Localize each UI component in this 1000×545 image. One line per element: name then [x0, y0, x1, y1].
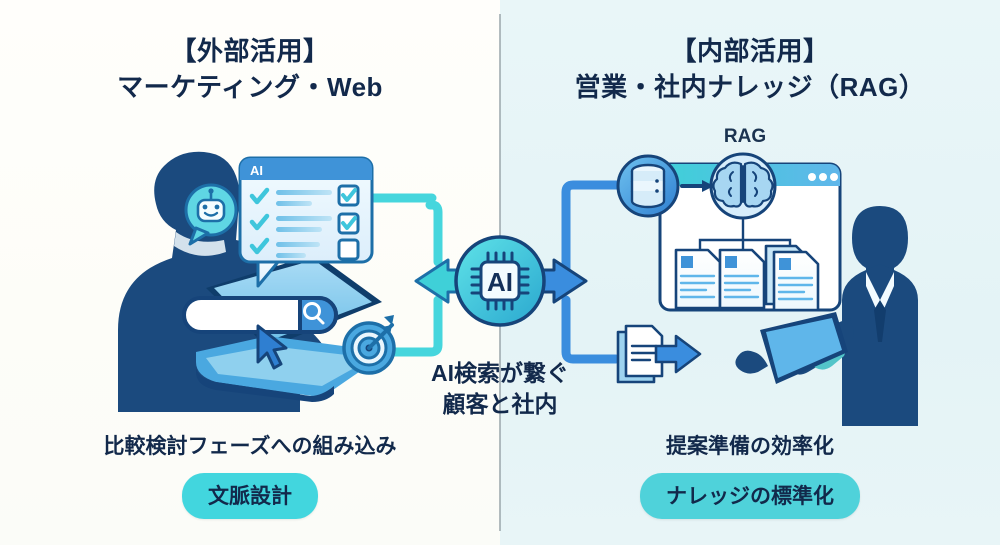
left-footer-text: 比較検討フェーズへの組み込み — [0, 432, 500, 462]
left-title-line1: 【外部活用】 — [0, 34, 500, 68]
center-caption: AI検索が繋ぐ 顧客と社内 — [370, 358, 630, 420]
document-icon — [676, 250, 720, 308]
right-title-block: 【内部活用】 営業・社内ナレッジ（RAG） — [500, 34, 1000, 106]
right-title-line2: 営業・社内ナレッジ（RAG） — [500, 68, 1000, 106]
connector-to-database — [566, 185, 624, 270]
infographic-canvas: AI — [0, 0, 1000, 545]
document-icon — [720, 250, 764, 308]
brain-icon — [711, 154, 775, 218]
ai-chip-icon: AI — [456, 237, 544, 325]
center-caption-line1: AI検索が繋ぐ — [370, 358, 630, 389]
connector-to-checklist — [430, 205, 438, 262]
document-stack-icon — [676, 246, 818, 310]
connector-to-document — [566, 300, 616, 359]
checklist-checkboxes — [339, 186, 358, 259]
left-title-block: 【外部活用】 マーケティング・Web — [0, 34, 500, 106]
center-caption-line2: 顧客と社内 — [370, 389, 630, 420]
right-footer-block: 提案準備の効率化 ナレッジの標準化 — [500, 432, 1000, 519]
rag-label: RAG — [690, 126, 800, 148]
right-title-line1: 【内部活用】 — [500, 34, 1000, 68]
ai-badge-label: AI — [487, 267, 513, 297]
document-icon — [766, 246, 818, 310]
right-pill-badge: ナレッジの標準化 — [640, 473, 860, 519]
left-footer-block: 比較検討フェーズへの組み込み 文脈設計 — [0, 432, 500, 519]
right-footer-text: 提案準備の効率化 — [500, 432, 1000, 462]
left-title-line2: マーケティング・Web — [0, 68, 500, 106]
left-pill-badge: 文脈設計 — [182, 473, 318, 519]
ai-card-header-label: AI — [250, 163, 263, 178]
